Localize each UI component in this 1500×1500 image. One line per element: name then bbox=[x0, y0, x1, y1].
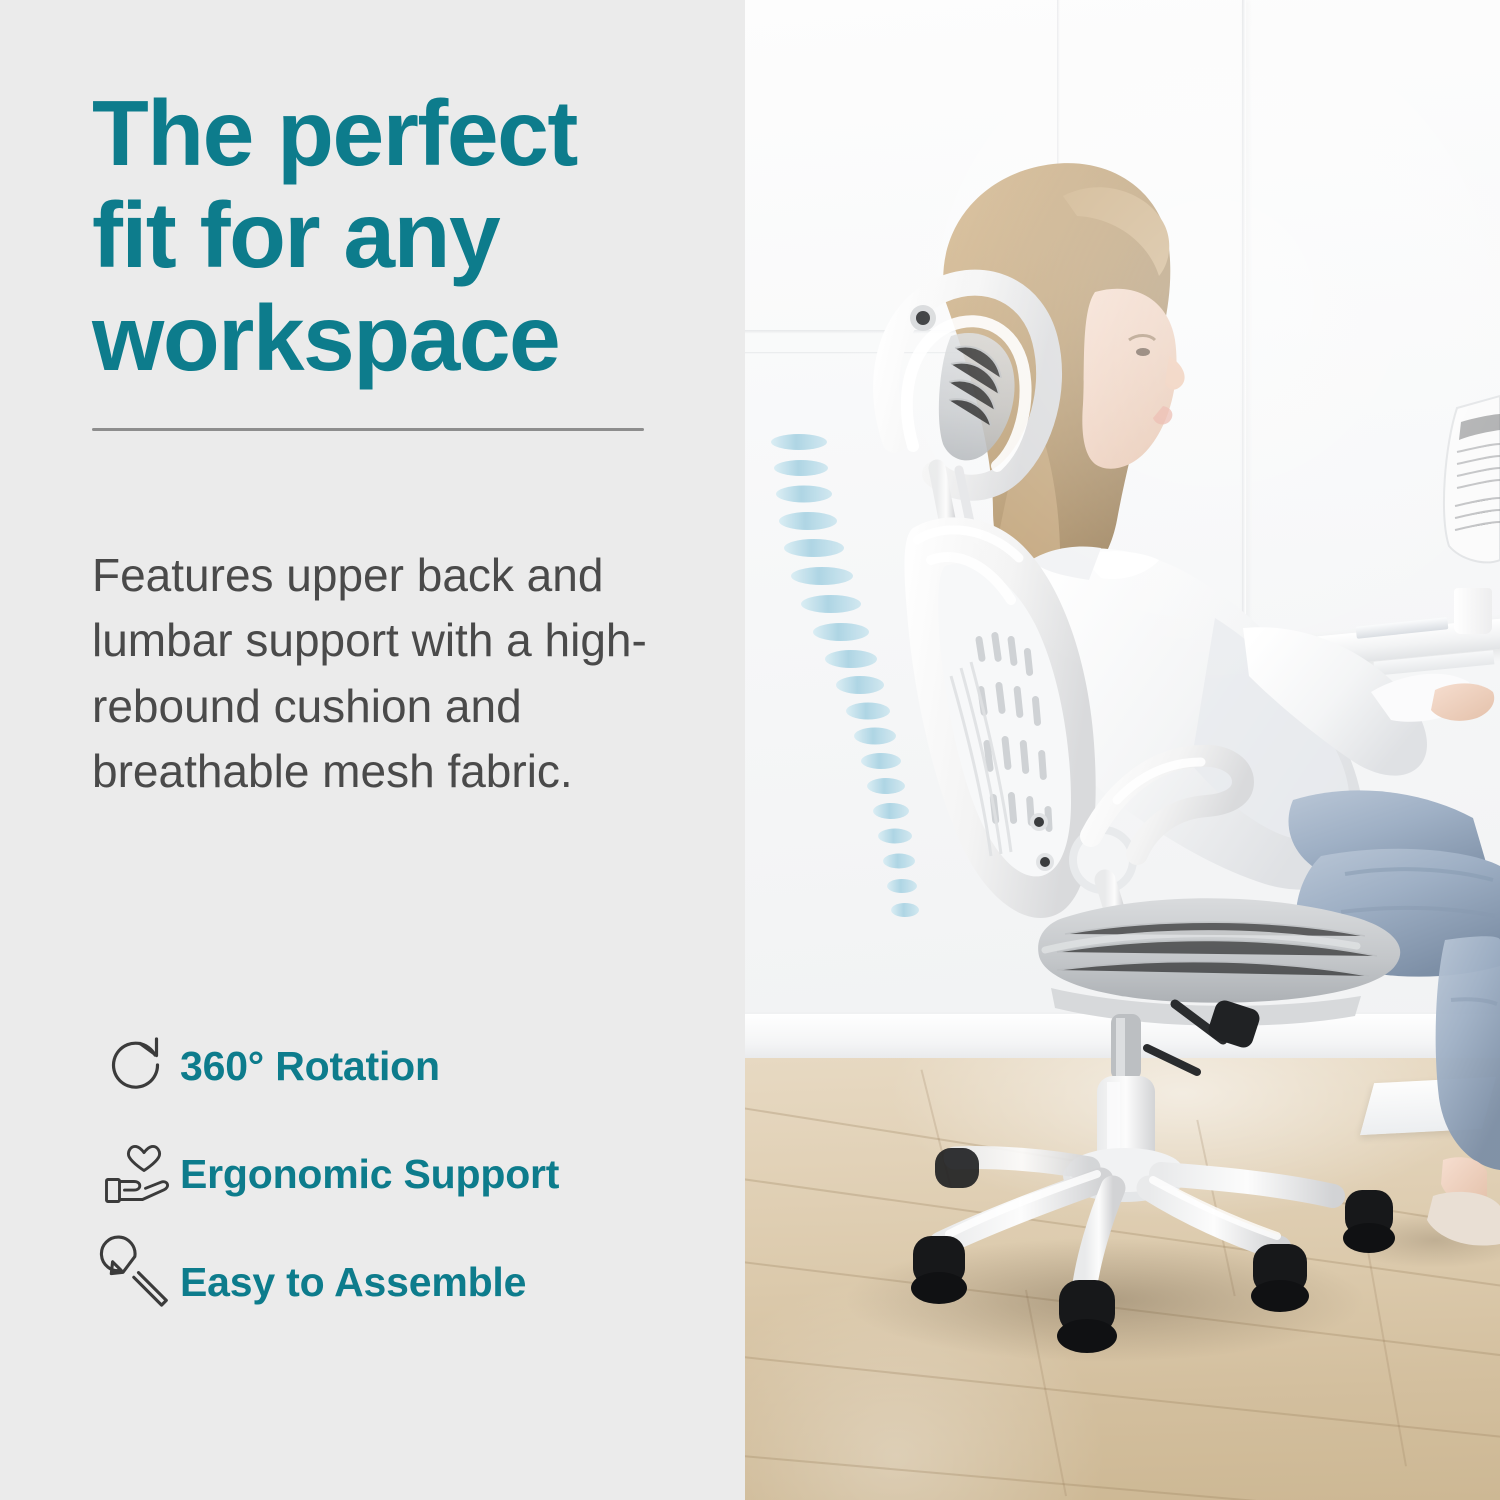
body-copy: Features upper back and lumbar support w… bbox=[92, 543, 672, 804]
headline-line-1: The perfect bbox=[92, 82, 692, 184]
caster-wheel bbox=[1343, 1190, 1395, 1253]
text-panel: The perfect fit for any workspace Featur… bbox=[0, 0, 745, 1500]
caster-wheel bbox=[935, 1148, 979, 1188]
product-feature-banner: The perfect fit for any workspace Featur… bbox=[0, 0, 1500, 1500]
headline-line-2: fit for any bbox=[92, 184, 692, 286]
wrench-icon bbox=[96, 1240, 180, 1324]
feature-list: 360° Rotation Ergonomic Support bbox=[96, 1012, 716, 1336]
headline-line-3: workspace bbox=[92, 287, 692, 389]
caster-wheel bbox=[1251, 1244, 1309, 1312]
page-title: The perfect fit for any workspace bbox=[92, 82, 692, 389]
feature-label-ergonomic: Ergonomic Support bbox=[180, 1151, 559, 1198]
newspaper bbox=[1444, 396, 1500, 562]
feature-item-assemble: Easy to Assemble bbox=[96, 1228, 716, 1336]
feature-item-ergonomic: Ergonomic Support bbox=[96, 1120, 716, 1228]
caster-wheel bbox=[1057, 1280, 1117, 1353]
product-photo bbox=[745, 0, 1500, 1500]
feature-item-rotation: 360° Rotation bbox=[96, 1012, 716, 1120]
divider bbox=[92, 428, 644, 431]
caster-wheel bbox=[911, 1236, 967, 1304]
chair-and-person-illustration bbox=[745, 0, 1500, 1500]
hand-holding-heart-icon bbox=[96, 1132, 180, 1216]
feature-label-rotation: 360° Rotation bbox=[180, 1043, 440, 1090]
feature-label-assemble: Easy to Assemble bbox=[180, 1259, 526, 1306]
rotation-arrow-icon bbox=[96, 1024, 180, 1108]
